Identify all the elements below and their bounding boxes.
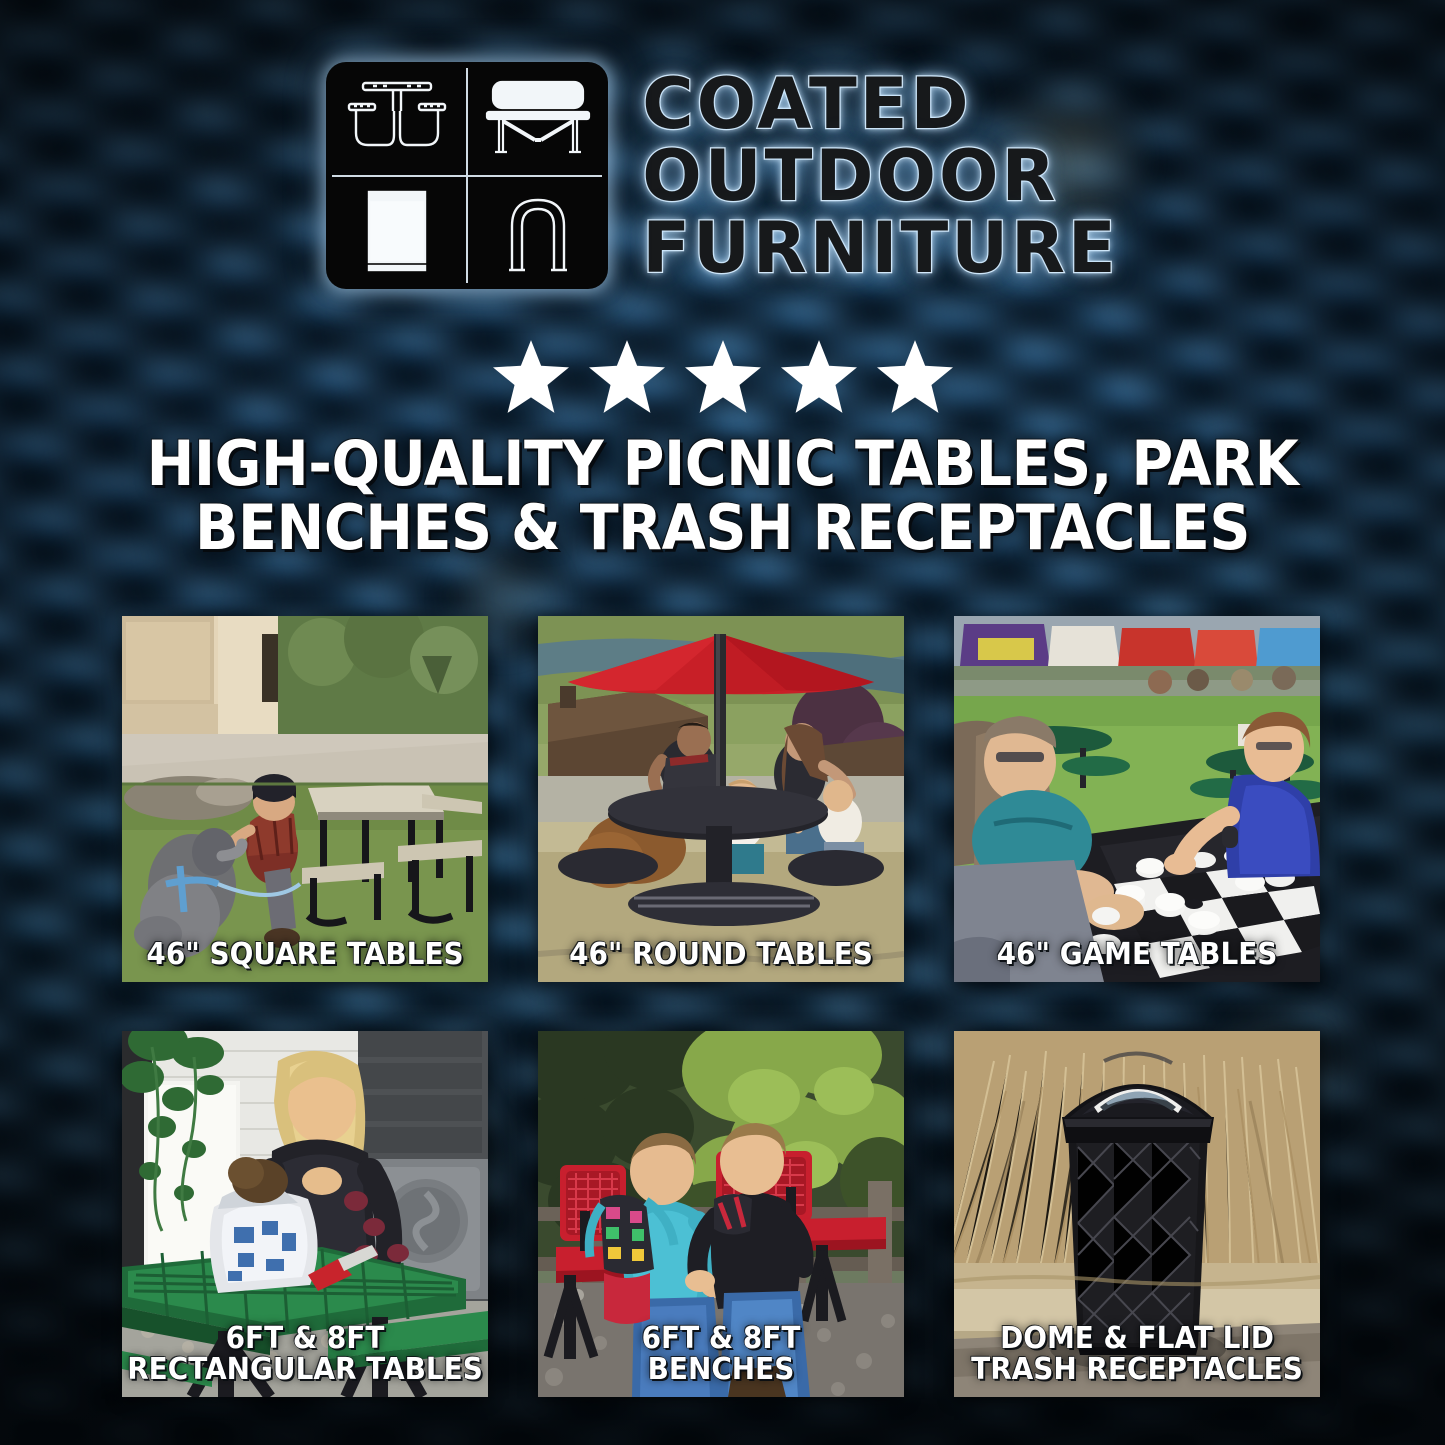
product-grid: 46" SQUARE TABLES (122, 616, 1325, 1397)
star-icon (589, 340, 665, 413)
product-card[interactable]: DOME & FLAT LID TRASH RECEPTACLES (954, 1031, 1320, 1397)
brand-header: COATED OUTDOOR FURNITURE (0, 62, 1445, 289)
product-card[interactable]: 46" GAME TABLES (954, 616, 1320, 982)
product-caption-line-1: 6FT & 8FT (112, 1323, 497, 1354)
product-photo-round-tables (538, 616, 904, 982)
star-icon (877, 340, 953, 413)
product-caption-line-1: 46" ROUND TABLES (528, 939, 913, 970)
bike-rack-icon (467, 176, 608, 290)
headline-line-2: BENCHES & TRASH RECEPTACLES (58, 496, 1387, 560)
product-caption-line-1: 6FT & 8FT (528, 1323, 913, 1354)
product-caption-line-1: 46" GAME TABLES (944, 939, 1329, 970)
product-caption: DOME & FLAT LID TRASH RECEPTACLES (944, 1323, 1329, 1385)
product-caption: 46" ROUND TABLES (528, 939, 913, 970)
poster: COATED OUTDOOR FURNITURE HIGH-QUALITY PI… (0, 0, 1445, 1445)
star-icon (781, 340, 857, 413)
product-caption: 46" GAME TABLES (944, 939, 1329, 970)
product-caption-line-2: RECTANGULAR TABLES (112, 1354, 497, 1385)
product-card[interactable]: 6FT & 8FT BENCHES (538, 1031, 904, 1397)
product-caption: 6FT & 8FT RECTANGULAR TABLES (112, 1323, 497, 1385)
product-photo-square-tables (122, 616, 488, 982)
product-caption: 6FT & 8FT BENCHES (528, 1323, 913, 1385)
headline: HIGH-QUALITY PICNIC TABLES, PARK BENCHES… (58, 432, 1387, 560)
star-icon (493, 340, 569, 413)
star-icon (685, 340, 761, 413)
brand-name-line-1: COATED (642, 69, 1119, 139)
product-caption-line-1: 46" SQUARE TABLES (112, 939, 497, 970)
brand-name-line-3: FURNITURE (642, 213, 1119, 283)
product-photo-game-tables (954, 616, 1320, 982)
product-caption-line-1: DOME & FLAT LID (944, 1323, 1329, 1354)
product-card[interactable]: 46" SQUARE TABLES (122, 616, 488, 982)
logo-mark (326, 62, 608, 289)
trash-receptacle-icon (326, 176, 467, 290)
product-caption-line-2: BENCHES (528, 1354, 913, 1385)
product-card[interactable]: 46" ROUND TABLES (538, 616, 904, 982)
headline-line-1: HIGH-QUALITY PICNIC TABLES, PARK (58, 432, 1387, 496)
picnic-table-icon (326, 62, 467, 176)
product-card[interactable]: 6FT & 8FT RECTANGULAR TABLES (122, 1031, 488, 1397)
product-caption-line-2: TRASH RECEPTACLES (944, 1354, 1329, 1385)
product-caption: 46" SQUARE TABLES (112, 939, 497, 970)
brand-wordmark: COATED OUTDOOR FURNITURE (642, 69, 1119, 283)
star-rating (0, 340, 1445, 413)
bench-side-icon (467, 62, 608, 176)
brand-name-line-2: OUTDOOR (642, 141, 1119, 211)
